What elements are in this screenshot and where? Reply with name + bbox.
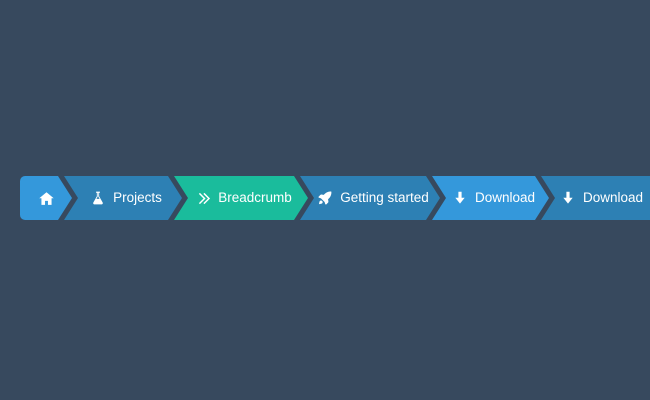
breadcrumb-label-getting-started: Getting started bbox=[340, 191, 429, 205]
home-icon bbox=[38, 190, 55, 207]
breadcrumb-item-home bbox=[20, 176, 64, 220]
flask-icon bbox=[90, 190, 106, 206]
breadcrumb-item-projects: Projects bbox=[64, 176, 174, 220]
breadcrumb-list: Projects Breadcrumb bbox=[20, 176, 630, 220]
breadcrumb-item-breadcrumb: Breadcrumb bbox=[174, 176, 300, 220]
breadcrumb-link-projects[interactable]: Projects bbox=[64, 176, 182, 220]
breadcrumb: Projects Breadcrumb bbox=[20, 176, 630, 220]
breadcrumb-link-download-2[interactable]: Download bbox=[541, 176, 650, 220]
breadcrumb-link-breadcrumb[interactable]: Breadcrumb bbox=[174, 176, 308, 220]
breadcrumb-item-download-1: Download bbox=[432, 176, 541, 220]
breadcrumb-label-download-1: Download bbox=[475, 191, 535, 205]
breadcrumb-item-download-2: Download bbox=[541, 176, 650, 220]
breadcrumb-link-download-1[interactable]: Download bbox=[432, 176, 549, 220]
breadcrumb-item-getting-started: Getting started bbox=[300, 176, 432, 220]
breadcrumb-label-download-2: Download bbox=[583, 191, 643, 205]
arrow-down-icon bbox=[452, 190, 468, 206]
breadcrumb-label-breadcrumb: Breadcrumb bbox=[218, 191, 292, 205]
rocket-icon bbox=[317, 190, 333, 206]
double-chevron-right-icon bbox=[196, 191, 211, 206]
breadcrumb-link-getting-started[interactable]: Getting started bbox=[300, 176, 440, 220]
breadcrumb-label-projects: Projects bbox=[113, 191, 162, 205]
arrow-down-icon bbox=[560, 190, 576, 206]
